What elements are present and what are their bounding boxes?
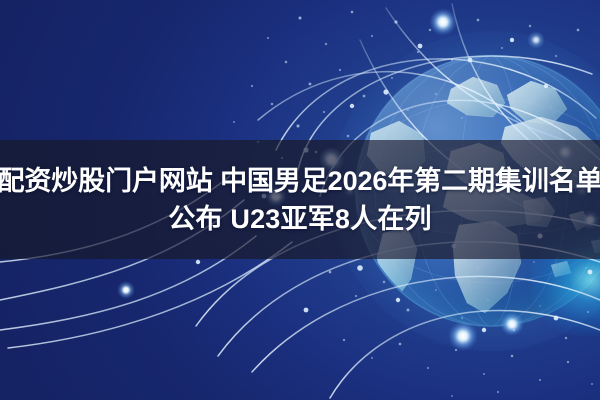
page-title: 配资炒股门户网站 中国男足2026年第二期集训名单 公布 U23亚军8人在列 [0,140,600,259]
headline-line-1: 配资炒股门户网站 中国男足2026年第二期集训名单 [0,163,600,199]
banner-image: 配资炒股门户网站 中国男足2026年第二期集训名单 公布 U23亚军8人在列 [0,0,600,400]
headline-line-2: 公布 U23亚军8人在列 [168,201,431,237]
